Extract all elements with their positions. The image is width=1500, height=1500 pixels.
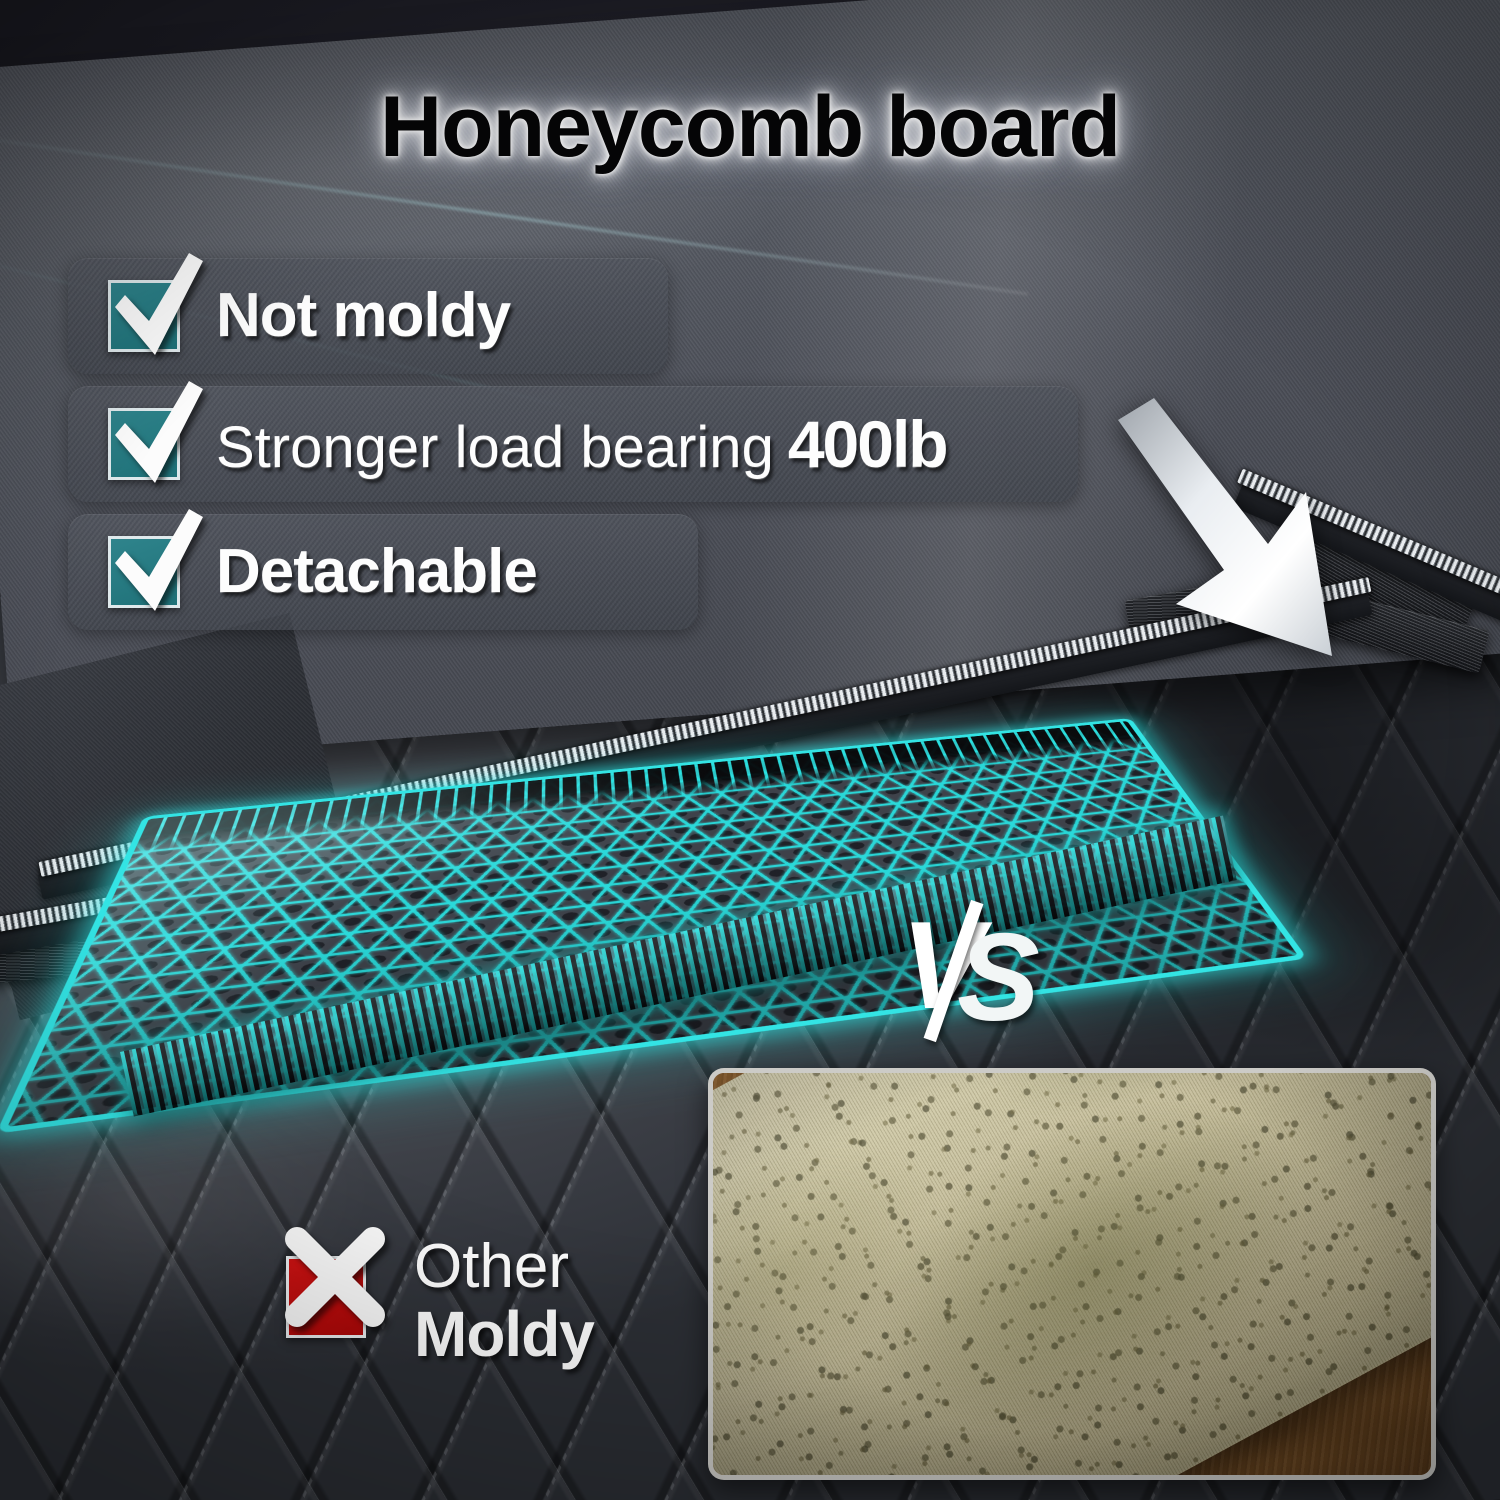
x-mark-box[interactable] [286,1256,366,1338]
checkbox-load-bearing[interactable] [108,408,180,480]
vs-letter-s: S [957,916,1030,1040]
feature-label-load-bearing: Stronger load bearing400lb [216,411,947,477]
checkbox-detachable[interactable] [108,536,180,608]
negative-label-moldy: Moldy [414,1299,594,1371]
negative-label-other: Other [414,1234,594,1299]
feature-label-load-bearing-value: 400lb [788,407,947,481]
product-infographic: Honeycomb board Not moldy Stronger load … [0,0,1500,1500]
negative-comparison-block: Other Moldy [286,1222,594,1371]
feature-list: Not moldy Stronger load bearing400lb Det… [68,258,1078,630]
checkmark-icon [105,379,209,491]
arrow-down-right-icon [1118,398,1378,668]
checkbox-not-moldy[interactable] [108,280,180,352]
feature-row-load-bearing[interactable]: Stronger load bearing400lb [68,386,1078,502]
feature-label-load-bearing-text: Stronger load bearing [216,415,774,480]
vs-badge: V S [905,918,1045,1038]
feature-label-not-moldy: Not moldy [216,285,510,347]
moldy-particle-board-photo [708,1068,1436,1480]
feature-label-detachable: Detachable [216,541,537,603]
negative-comparison-text: Other Moldy [414,1234,594,1371]
checkmark-icon [105,507,209,619]
feature-row-detachable[interactable]: Detachable [68,514,698,630]
page-title: Honeycomb board [0,78,1500,177]
x-mark-icon [275,1217,395,1337]
inset-vignette [713,1073,1431,1475]
checkmark-icon [105,251,209,363]
feature-row-not-moldy[interactable]: Not moldy [68,258,668,374]
